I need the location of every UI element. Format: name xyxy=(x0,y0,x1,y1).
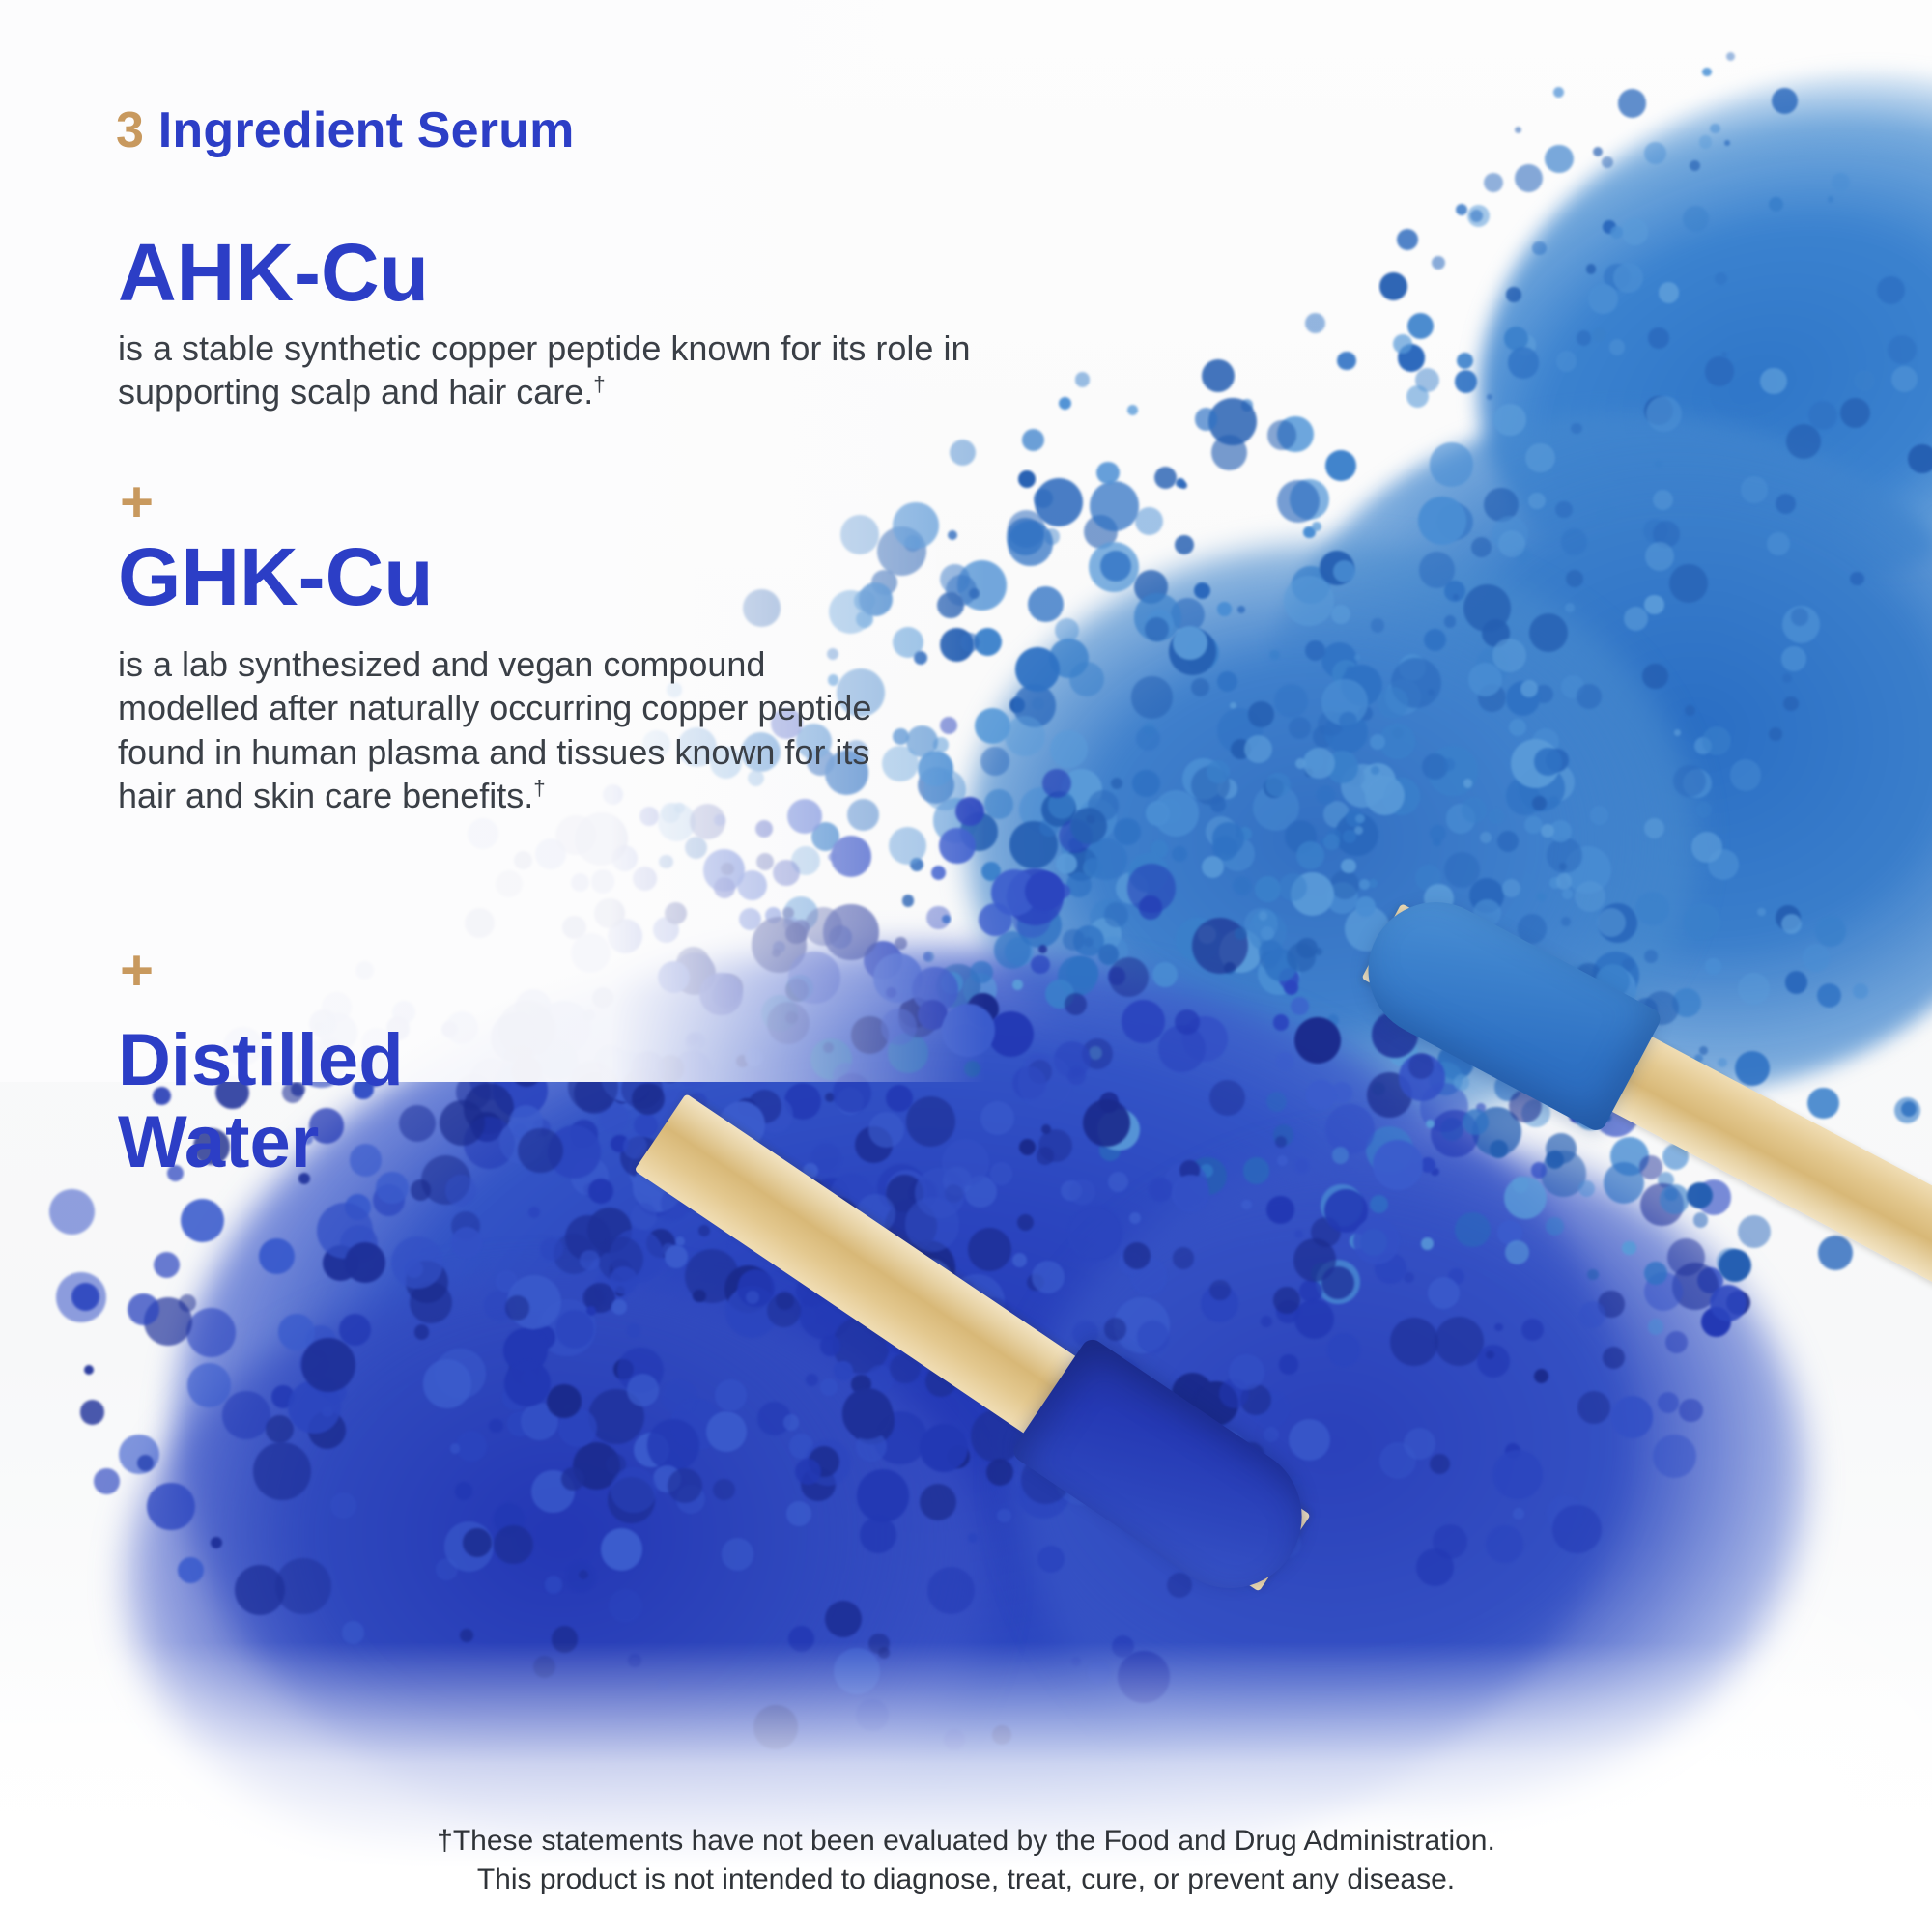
fda-disclaimer-line-2: This product is not intended to diagnose… xyxy=(0,1861,1932,1899)
ingredient-name-ahk: AHK-Cu xyxy=(118,232,1094,313)
ingredient-description-ghk: is a lab synthesized and vegan compound … xyxy=(118,642,910,817)
eyebrow-heading: 3 Ingredient Serum xyxy=(116,101,575,159)
infographic-canvas: 3 Ingredient Serum AHK-Cu is a stable sy… xyxy=(0,0,1932,1932)
fda-disclaimer-line-1: †These statements have not been evaluate… xyxy=(0,1822,1932,1861)
ingredient-block-ahk: AHK-Cu is a stable synthetic copper pept… xyxy=(118,232,1094,414)
ingredient-description-ahk-text: is a stable synthetic copper peptide kno… xyxy=(118,328,970,412)
ingredient-description-ghk-text: is a lab synthesized and vegan compound … xyxy=(118,644,871,815)
ingredient-description-ahk: is a stable synthetic copper peptide kno… xyxy=(118,327,1094,414)
ingredient-count: 3 xyxy=(116,102,144,158)
ingredient-block-water: Distilled Water xyxy=(118,1019,562,1183)
plus-separator-1: + xyxy=(120,473,154,531)
dagger-marker-ghk: † xyxy=(533,776,545,800)
dagger-marker-ahk: † xyxy=(593,372,605,396)
ingredient-block-ghk: GHK-Cu is a lab synthesized and vegan co… xyxy=(118,536,910,817)
ingredient-name-distilled-water: Distilled Water xyxy=(118,1019,562,1183)
ingredient-name-ghk: GHK-Cu xyxy=(118,536,910,617)
plus-separator-2: + xyxy=(120,942,154,1000)
fda-disclaimer: †These statements have not been evaluate… xyxy=(0,1822,1932,1899)
eyebrow-title: Ingredient Serum xyxy=(144,102,574,158)
content-layer: 3 Ingredient Serum AHK-Cu is a stable sy… xyxy=(0,0,1932,1932)
